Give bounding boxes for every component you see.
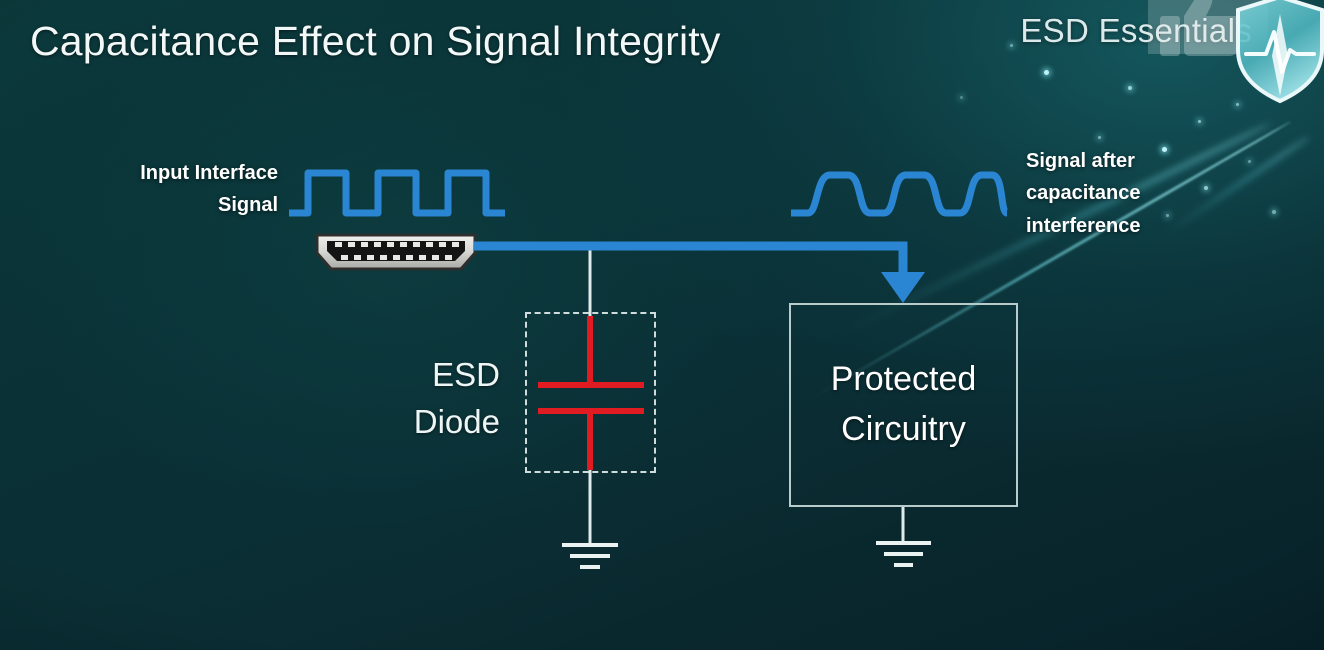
slide-canvas: Capacitance Effect on Signal Integrity E…: [0, 0, 1324, 650]
arrow-down-icon: [881, 272, 925, 303]
circuit-wiring: [0, 0, 1324, 650]
ground-symbol-icon: [876, 543, 931, 565]
signal-trace: [474, 246, 925, 303]
esd-diode-label: ESD Diode: [388, 352, 500, 446]
protected-circuitry-box: Protected Circuitry: [789, 303, 1018, 507]
protected-circuitry-label: Protected Circuitry: [831, 355, 977, 454]
esd-diode-boundary: [525, 312, 656, 473]
ground-symbol-icon: [562, 545, 618, 567]
